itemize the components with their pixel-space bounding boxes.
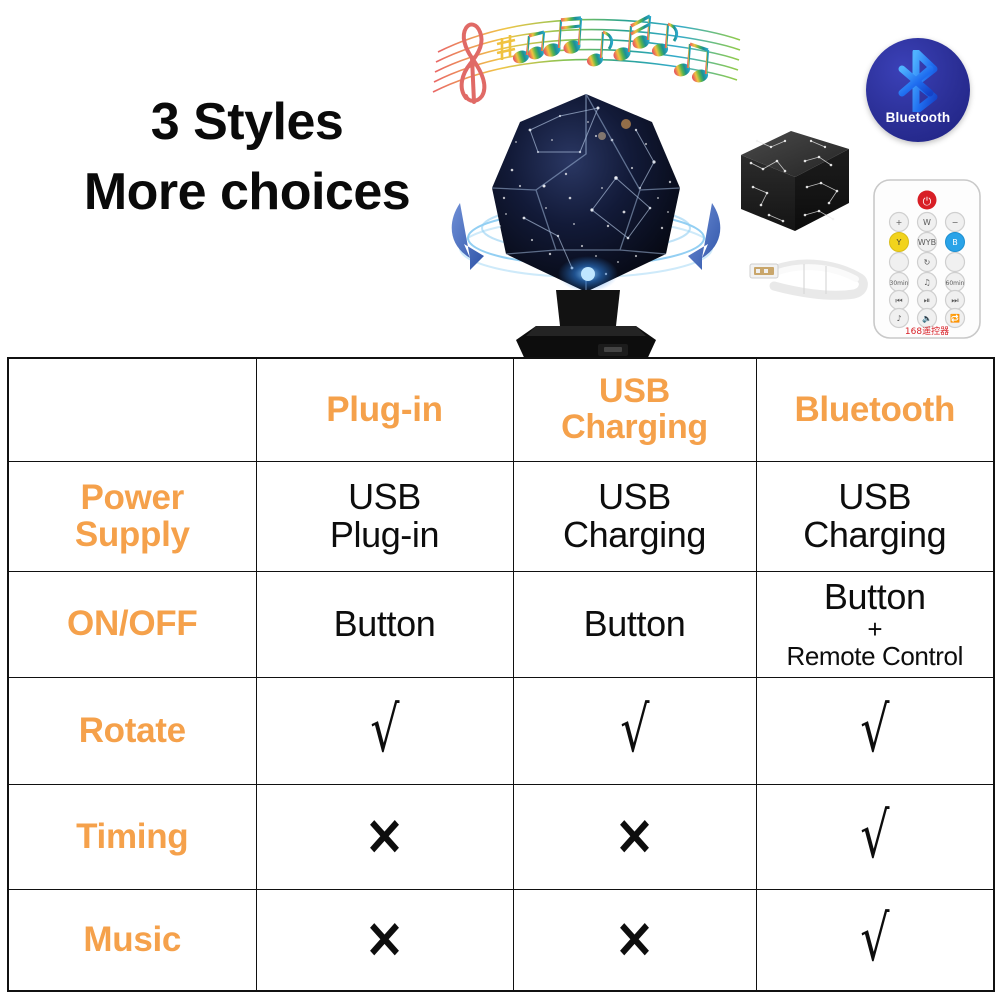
svg-text:Y: Y (896, 238, 902, 247)
row-label-onoff: ON/OFF (8, 571, 256, 677)
cell-music-bluetooth: √ (756, 889, 994, 991)
row-label-timing: Timing (8, 784, 256, 889)
bluetooth-badge-label: Bluetooth (866, 110, 970, 125)
page-title: 3 Styles More choices (52, 96, 442, 218)
svg-text:⏻: ⏻ (923, 195, 932, 208)
product-box-icon (733, 127, 857, 237)
table-row-timing: Timing ✕ ✕ √ (8, 784, 994, 889)
cell-onoff-usb: Button (513, 571, 756, 677)
header-cell-usb-charging: USB Charging (513, 358, 756, 461)
comparison-table: Plug-in USB Charging Bluetooth Power Sup… (7, 357, 995, 992)
check-icon: √ (860, 699, 889, 762)
star-projector-lamp-icon (440, 78, 732, 357)
row-label-line2: Supply (9, 516, 256, 553)
cell-line1: Button (757, 578, 994, 616)
svg-text:↻: ↻ (924, 258, 931, 267)
row-label-power-supply: Power Supply (8, 461, 256, 571)
cell-onoff-bluetooth: Button + Remote Control (756, 571, 994, 677)
svg-text:60min: 60min (946, 280, 965, 287)
svg-text:⏯: ⏯ (924, 296, 930, 305)
cell-timing-plugin: ✕ (256, 784, 513, 889)
remote-model-label: 168遥控器 (905, 325, 949, 337)
cell-line1: USB (757, 478, 994, 516)
svg-text:🔁: 🔁 (950, 313, 960, 323)
headline-line-1: 3 Styles (52, 96, 442, 148)
cell-power-bluetooth: USB Charging (756, 461, 994, 571)
bluetooth-badge: Bluetooth (866, 38, 970, 142)
cross-icon: ✕ (365, 914, 404, 966)
cross-icon: ✕ (615, 811, 654, 863)
cell-music-usb: ✕ (513, 889, 756, 991)
headline-line-2: More choices (52, 166, 442, 218)
svg-text:+: + (896, 218, 903, 227)
cell-onoff-plugin: Button (256, 571, 513, 677)
svg-text:⏭: ⏭ (951, 296, 958, 305)
row-label-line1: Power (9, 479, 256, 516)
check-icon: √ (620, 699, 649, 762)
cell-rotate-plugin: √ (256, 677, 513, 784)
cell-timing-bluetooth: √ (756, 784, 994, 889)
table-row-onoff: ON/OFF Button Button Button + Remote Con… (8, 571, 994, 677)
usb-cable-icon (744, 248, 870, 310)
cell-rotate-usb: √ (513, 677, 756, 784)
svg-text:30min: 30min (890, 280, 909, 287)
table-row-power-supply: Power Supply USB Plug-in USB Charging US… (8, 461, 994, 571)
cell-line2: Remote Control (757, 642, 994, 670)
svg-text:B: B (952, 238, 958, 247)
cell-line2: Charging (757, 516, 994, 554)
cell-line1: USB (514, 478, 756, 516)
cell-line1: USB (257, 478, 513, 516)
table-row-rotate: Rotate √ √ √ (8, 677, 994, 784)
svg-text:♪: ♪ (896, 314, 901, 323)
cell-power-usb: USB Charging (513, 461, 756, 571)
cell-line2: Charging (514, 516, 756, 554)
header-cell-bluetooth: Bluetooth (756, 358, 994, 461)
bluetooth-icon (894, 50, 944, 112)
table-header-row: Plug-in USB Charging Bluetooth (8, 358, 994, 461)
cell-rotate-bluetooth: √ (756, 677, 994, 784)
check-icon: √ (860, 805, 889, 868)
hero-banner: 3 Styles More choices (0, 0, 1000, 357)
svg-text:−: − (952, 218, 959, 227)
header-cell-empty (8, 358, 256, 461)
check-icon: √ (860, 908, 889, 971)
header-usb-line1: USB (514, 374, 756, 409)
cell-timing-usb: ✕ (513, 784, 756, 889)
cross-icon: ✕ (615, 914, 654, 966)
svg-text:WYB: WYB (918, 238, 936, 247)
svg-text:🔈: 🔈 (922, 314, 932, 323)
table-row-music: Music ✕ ✕ √ (8, 889, 994, 991)
svg-text:W: W (923, 218, 931, 227)
cross-icon: ✕ (365, 811, 404, 863)
row-label-music: Music (8, 889, 256, 991)
cell-power-plugin: USB Plug-in (256, 461, 513, 571)
header-cell-plugin: Plug-in (256, 358, 513, 461)
cell-music-plugin: ✕ (256, 889, 513, 991)
row-label-rotate: Rotate (8, 677, 256, 784)
cell-line2: Plug-in (257, 516, 513, 554)
check-icon: √ (370, 699, 399, 762)
svg-text:♫: ♫ (923, 278, 930, 287)
cell-plus: + (757, 616, 994, 642)
remote-control-icon: ⏻ +W− YWYBB ↻ 30min♫60min ⏮⏯⏭ ♪🔈🔁 168遥控器 (871, 178, 983, 340)
svg-text:⏮: ⏮ (895, 296, 902, 305)
header-usb-line2: Charging (514, 410, 756, 445)
